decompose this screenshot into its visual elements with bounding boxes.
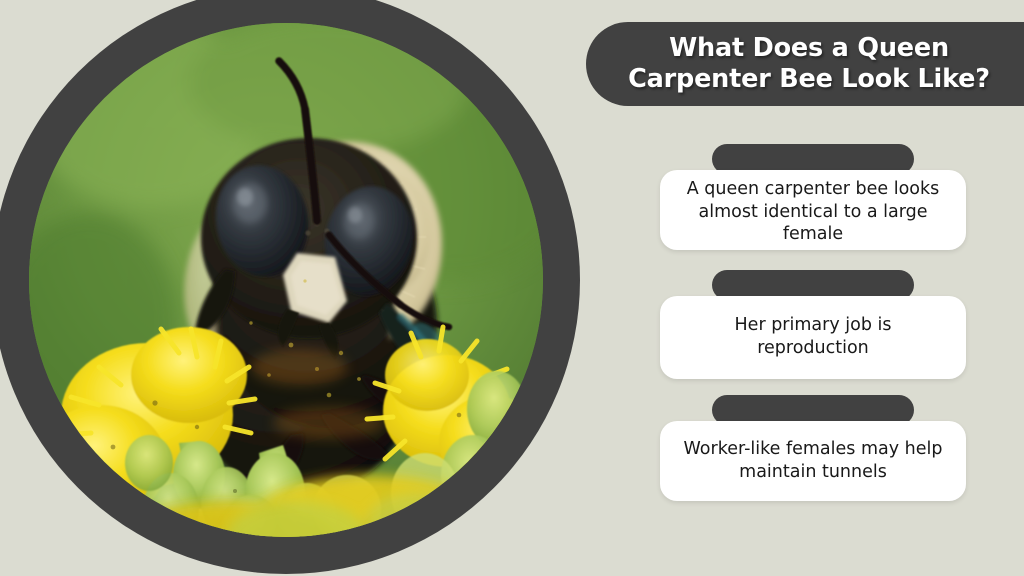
fact-card-3-body: Worker-like females may help maintain tu… [660, 421, 966, 501]
fact-card-1-body: A queen carpenter bee looks almost ident… [660, 170, 966, 250]
bee-photo [29, 23, 543, 537]
fact-card-2-text: Her primary job is reproduction [676, 314, 950, 360]
fact-card-1-text: A queen carpenter bee looks almost ident… [676, 178, 950, 246]
fact-card-3-text: Worker-like females may help maintain tu… [676, 438, 950, 484]
infographic-stage: What Does a Queen Carpenter Bee Look Lik… [0, 0, 1024, 576]
photo-ring-border [0, 0, 580, 574]
page-title-banner: What Does a Queen Carpenter Bee Look Lik… [586, 22, 1024, 106]
fact-card-2-body: Her primary job is reproduction [660, 296, 966, 379]
page-title: What Does a Queen Carpenter Bee Look Lik… [628, 33, 990, 95]
